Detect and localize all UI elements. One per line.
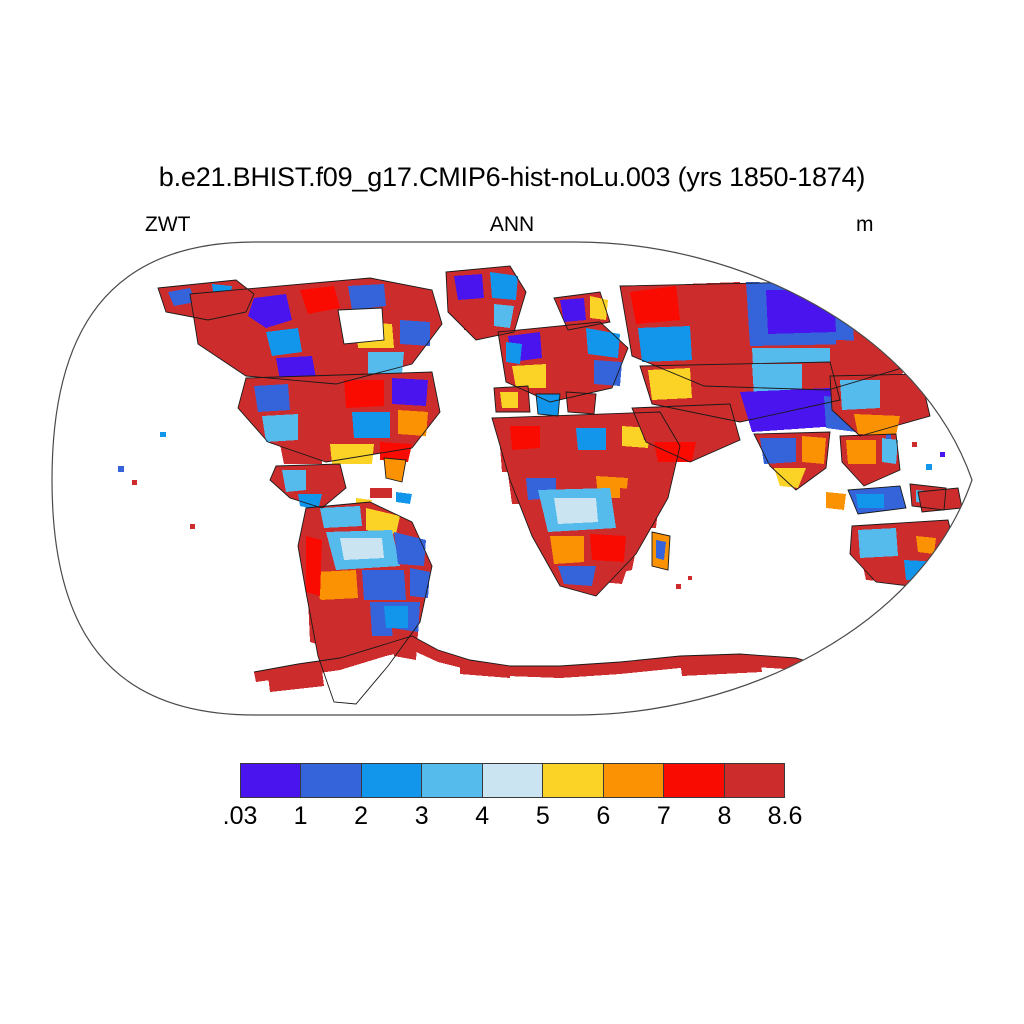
plot-subheader: ZWT ANN m — [0, 211, 1024, 239]
colorbar-swatch-5 — [543, 764, 603, 797]
colorbar-swatch-2 — [362, 764, 422, 797]
page-title: b.e21.BHIST.f09_g17.CMIP6-hist-noLu.003 … — [0, 161, 1024, 193]
colorbar-swatch-3 — [422, 764, 482, 797]
colorbar-tick-2: 2 — [354, 800, 368, 832]
colorbar-swatch-8 — [725, 764, 784, 797]
colorbar-swatch-4 — [483, 764, 543, 797]
colorbar-tick-6: 6 — [596, 800, 610, 832]
colorbar-tick-8: 8 — [717, 800, 731, 832]
figure-canvas: b.e21.BHIST.f09_g17.CMIP6-hist-noLu.003 … — [0, 0, 1024, 1024]
world-map — [40, 236, 984, 724]
colorbar — [240, 763, 785, 798]
map-svg — [40, 236, 984, 724]
colorbar-swatch-0 — [241, 764, 301, 797]
colorbar-tick-0: .03 — [223, 800, 258, 832]
colorbar-tick-3: 3 — [415, 800, 429, 832]
colorbar-swatch-7 — [664, 764, 724, 797]
colorbar-tick-4: 4 — [475, 800, 489, 832]
colorbar-tick-1: 1 — [294, 800, 308, 832]
colorbar-tick-5: 5 — [536, 800, 550, 832]
colorbar-tick-labels: .03123456788.6 — [240, 800, 785, 834]
colorbar-swatch-6 — [604, 764, 664, 797]
colorbar-tick-9: 8.6 — [768, 800, 803, 832]
colorbar-tick-7: 7 — [657, 800, 671, 832]
colorbar-swatch-1 — [301, 764, 361, 797]
units-label: m — [856, 211, 874, 239]
